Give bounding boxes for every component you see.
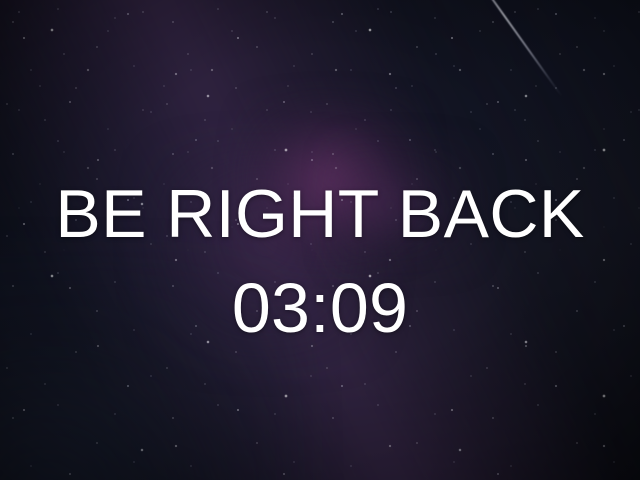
break-screen: BE RIGHT BACK 03:09 — [0, 0, 640, 480]
overlay-text-layer: BE RIGHT BACK 03:09 — [0, 0, 640, 480]
countdown-timer: 03:09 — [0, 271, 640, 345]
break-headline: BE RIGHT BACK — [0, 178, 640, 250]
